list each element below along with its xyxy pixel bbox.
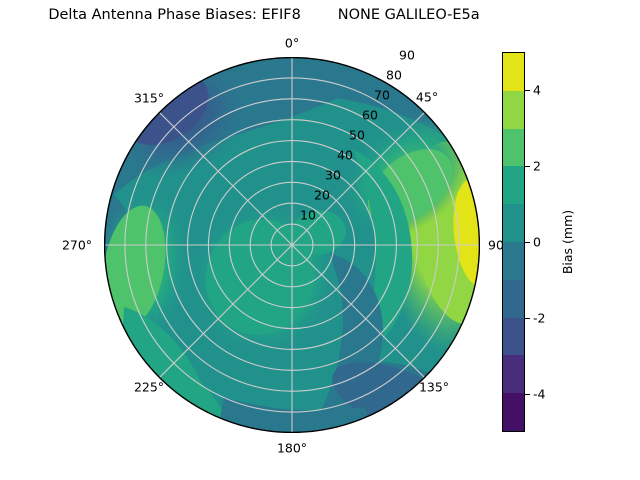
colorbar-segment-m1-to-0 xyxy=(503,242,524,280)
colorbar-ticklabel-4: 4 xyxy=(533,83,541,98)
r-label-50: 50 xyxy=(349,128,365,143)
r-label-30: 30 xyxy=(325,168,341,183)
r-label-60: 60 xyxy=(362,108,378,123)
polar-axes[interactable]: 0° 45° 90 135° 180° 225° 270° 315° 10 20… xyxy=(104,57,480,433)
theta-label-180: 180° xyxy=(277,441,307,456)
r-label-40: 40 xyxy=(337,148,353,163)
colorbar-ticklabel-0: 0 xyxy=(533,235,541,250)
colorbar-tick-4 xyxy=(525,90,530,91)
chart-title: Delta Antenna Phase Biases: EFIF8 NONE G… xyxy=(0,7,528,23)
polar-plot-svg xyxy=(104,57,480,433)
r-label-10: 10 xyxy=(300,208,316,223)
colorbar-tick-m2 xyxy=(525,318,530,319)
colorbar-gradient xyxy=(502,52,525,432)
theta-label-315: 315° xyxy=(134,91,164,106)
theta-label-45: 45° xyxy=(416,90,438,105)
colorbar-segment-m5-to-m4 xyxy=(503,393,524,431)
theta-label-135: 135° xyxy=(419,380,449,395)
colorbar-segment-0-to-1 xyxy=(503,204,524,242)
colorbar-ticklabel-m4: -4 xyxy=(533,387,545,402)
colorbar-segment-m2-to-m1 xyxy=(503,280,524,318)
theta-label-270: 270° xyxy=(62,238,92,253)
colorbar[interactable]: 4 2 0 -2 -4 Bias (mm) xyxy=(502,52,525,432)
colorbar-ticklabel-m2: -2 xyxy=(533,311,545,326)
r-label-90: 90 xyxy=(399,48,415,63)
r-label-70: 70 xyxy=(374,88,390,103)
theta-label-0: 0° xyxy=(285,36,299,51)
r-label-20: 20 xyxy=(314,188,330,203)
colorbar-segment-4-to-5 xyxy=(503,53,524,91)
colorbar-tick-0 xyxy=(525,242,530,243)
colorbar-segment-m3-to-m2 xyxy=(503,318,524,356)
colorbar-segment-3-to-4 xyxy=(503,91,524,129)
colorbar-segment-2-to-3 xyxy=(503,129,524,167)
colorbar-segment-m4-to-m3 xyxy=(503,355,524,393)
colorbar-tick-2 xyxy=(525,166,530,167)
colorbar-segment-1-to-2 xyxy=(503,166,524,204)
polar-grid-spokes xyxy=(105,58,479,432)
figure-canvas: Delta Antenna Phase Biases: EFIF8 NONE G… xyxy=(0,0,640,480)
colorbar-axis-label: Bias (mm) xyxy=(560,210,575,274)
theta-label-225: 225° xyxy=(134,380,164,395)
colorbar-tick-m4 xyxy=(525,394,530,395)
r-label-80: 80 xyxy=(386,68,402,83)
colorbar-ticklabel-2: 2 xyxy=(533,159,541,174)
